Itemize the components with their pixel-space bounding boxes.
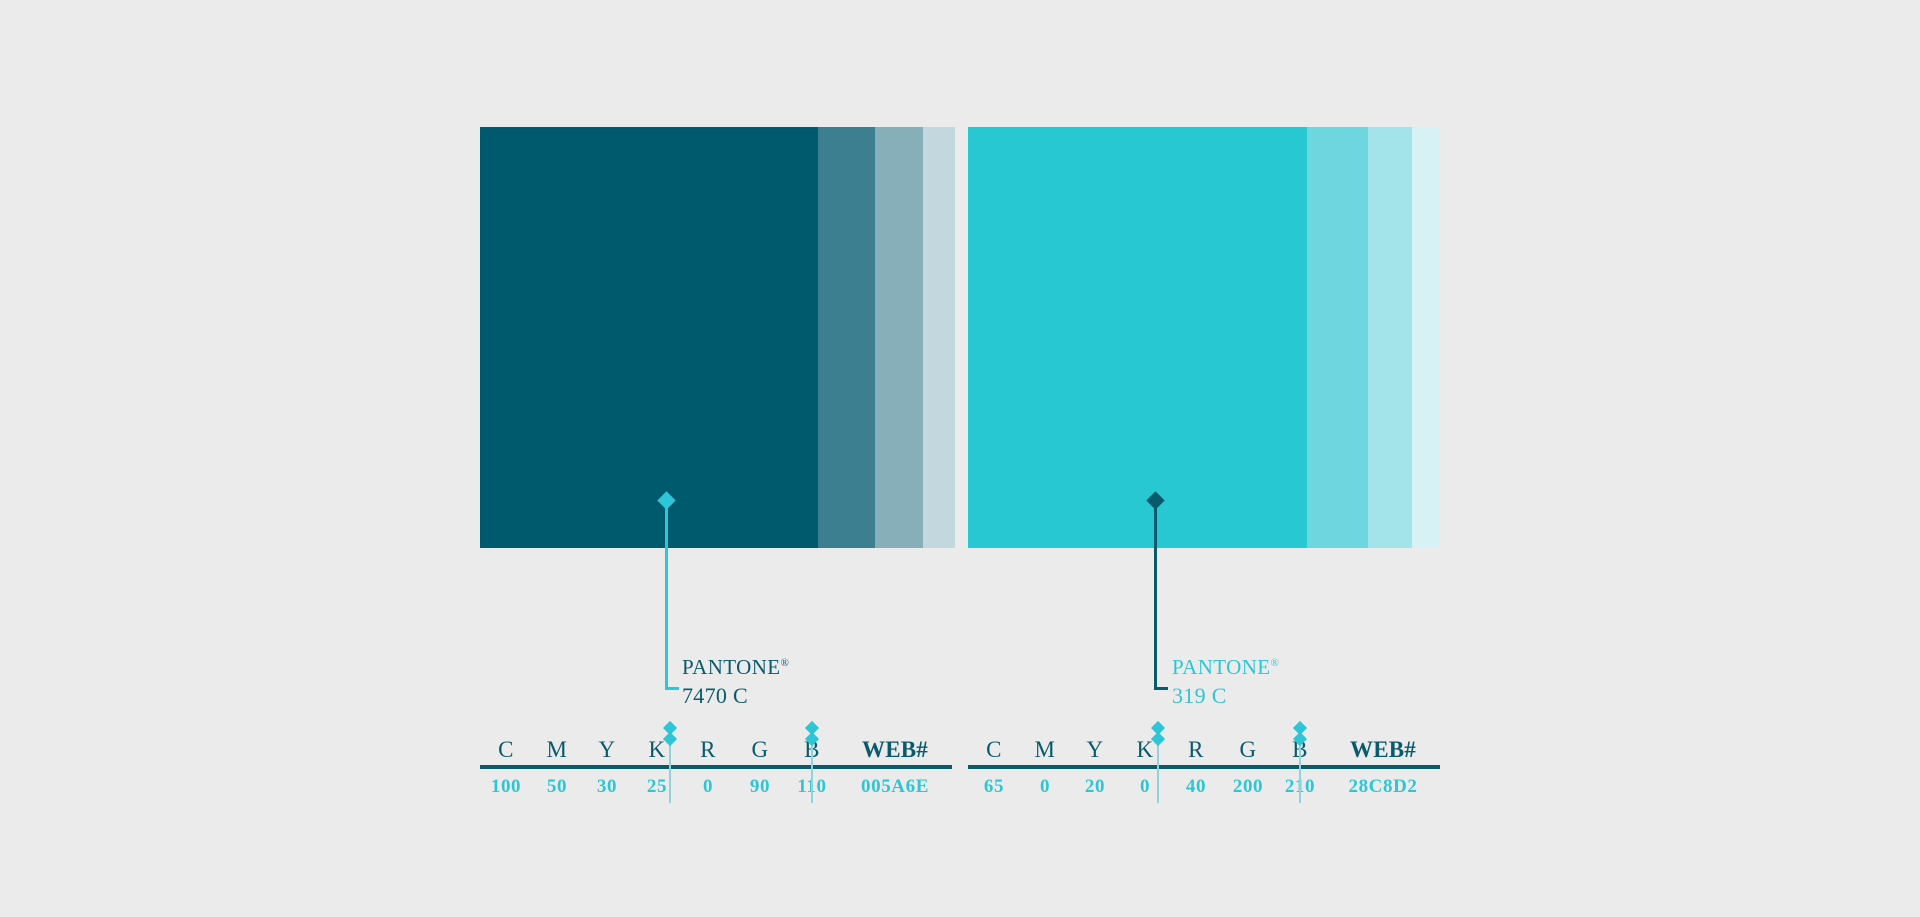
column-divider-cmyk-rgb	[1157, 723, 1159, 803]
leader-elbow	[1154, 687, 1168, 690]
spec-value-g: 90	[734, 776, 786, 798]
spec-value-r: 40	[1170, 776, 1222, 798]
column-divider-rgb-web	[1299, 723, 1301, 803]
swatch-band-tint-70[interactable]	[818, 127, 875, 548]
spec-value-c: 100	[480, 776, 532, 798]
spec-table-header-row: CMYKRGBWEB#	[480, 729, 952, 765]
spec-value-y: 20	[1070, 776, 1120, 798]
swatch-band-tint-45[interactable]	[1368, 127, 1412, 548]
spec-header-y: Y	[582, 737, 632, 765]
spec-value-g: 200	[1222, 776, 1274, 798]
pantone-code-text: 319 C	[1172, 685, 1279, 707]
swatch-group-pantone-319c	[968, 127, 1440, 548]
callout-leader-pantone-319c	[1154, 494, 1157, 690]
spec-header-r: R	[1170, 737, 1222, 765]
pantone-wordmark: PANTONE®	[682, 657, 789, 678]
spec-value-k: 0	[1120, 776, 1170, 798]
spec-header-web: WEB#	[1326, 737, 1440, 765]
spec-table-pantone-319c: CMYKRGBWEB# 6502004020021028C8D2	[968, 729, 1440, 809]
spec-header-c: C	[968, 737, 1020, 765]
spec-value-web: 005A6E	[838, 776, 952, 798]
swatch-band-tint-45[interactable]	[875, 127, 923, 548]
spec-table-rule	[968, 765, 1440, 769]
leader-elbow	[665, 687, 679, 690]
swatch-band-base[interactable]	[480, 127, 818, 548]
spec-value-web: 28C8D2	[1326, 776, 1440, 798]
spec-value-k: 25	[632, 776, 682, 798]
swatch-group-pantone-7470c	[480, 127, 955, 548]
spec-header-m: M	[532, 737, 582, 765]
spec-header-m: M	[1020, 737, 1070, 765]
pantone-label-7470c: PANTONE® 7470 C	[682, 657, 789, 707]
spec-table-pantone-7470c: CMYKRGBWEB# 100503025090110005A6E	[480, 729, 952, 809]
spec-table-value-row: 6502004020021028C8D2	[968, 771, 1440, 803]
spec-table-value-row: 100503025090110005A6E	[480, 771, 952, 803]
spec-value-c: 65	[968, 776, 1020, 798]
swatch-band-tint-20[interactable]	[1412, 127, 1440, 548]
swatch-band-base[interactable]	[968, 127, 1307, 548]
spec-header-web: WEB#	[838, 737, 952, 765]
spec-value-r: 0	[682, 776, 734, 798]
spec-header-r: R	[682, 737, 734, 765]
spec-table-rule	[480, 765, 952, 769]
registered-trademark-icon: ®	[1271, 657, 1280, 669]
pantone-wordmark-text: PANTONE	[682, 655, 781, 679]
spec-value-m: 50	[532, 776, 582, 798]
spec-table-header-row: CMYKRGBWEB#	[968, 729, 1440, 765]
spec-value-y: 30	[582, 776, 632, 798]
swatch-band-tint-20[interactable]	[923, 127, 955, 548]
spec-header-g: G	[734, 737, 786, 765]
pantone-label-319c: PANTONE® 319 C	[1172, 657, 1279, 707]
spec-header-y: Y	[1070, 737, 1120, 765]
callout-leader-pantone-7470c	[665, 494, 668, 690]
spec-header-g: G	[1222, 737, 1274, 765]
column-divider-cmyk-rgb	[669, 723, 671, 803]
spec-header-c: C	[480, 737, 532, 765]
pantone-wordmark-text: PANTONE	[1172, 655, 1271, 679]
pantone-wordmark: PANTONE®	[1172, 657, 1279, 678]
spec-value-m: 0	[1020, 776, 1070, 798]
pantone-code-text: 7470 C	[682, 685, 789, 707]
color-spec-sheet: PANTONE® 7470 C CMYKRGBWEB# 100503025090…	[0, 0, 1920, 917]
registered-trademark-icon: ®	[781, 657, 790, 669]
swatch-band-tint-70[interactable]	[1307, 127, 1368, 548]
leader-line	[1154, 500, 1157, 690]
column-divider-rgb-web	[811, 723, 813, 803]
leader-line	[665, 500, 668, 690]
